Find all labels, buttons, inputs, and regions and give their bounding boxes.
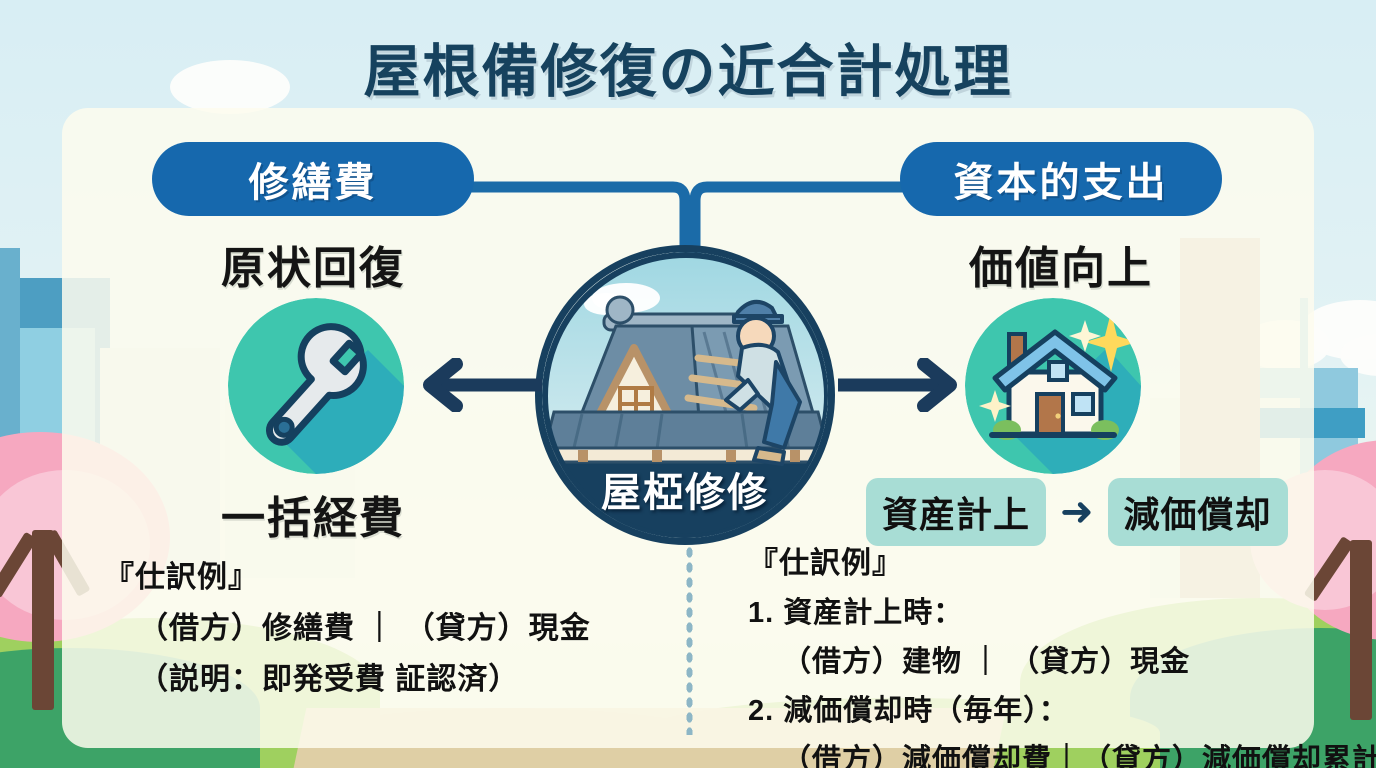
label-lump-sum-expense: 一括経費	[152, 482, 474, 546]
dotted-divider	[685, 545, 694, 735]
journal-example-left: 『仕訳例』 （借方）修繕費 ｜ （貸方）現金 （説明：即発受費 証認済）	[104, 552, 591, 698]
infographic-root: 屋根備修復の近合計処理 修繕費 資本的支出 原状回復 価値向上	[0, 0, 1376, 768]
center-label: 屋椏修修	[535, 460, 835, 518]
journal-right-line-3: 2. 減価償却時（毎年）：	[748, 687, 1376, 729]
house-sparkle-icon	[965, 298, 1141, 474]
tree-trunk-left	[32, 530, 54, 710]
journal-right-line-1: 1. 資産計上時：	[748, 589, 1376, 631]
wrench-icon	[228, 298, 404, 474]
subhead-restoration: 原状回復	[152, 232, 474, 296]
journal-right-heading: 『仕訳例』	[748, 538, 1376, 582]
arrow-right-icon	[838, 358, 962, 412]
subhead-value-improvement: 価値向上	[900, 232, 1222, 296]
page-title: 屋根備修復の近合計処理	[0, 26, 1376, 108]
badge-depreciation[interactable]: 減価償却	[1108, 478, 1288, 546]
journal-example-right: 『仕訳例』 1. 資産計上時： （借方）建物 ｜ （貸方）現金 2. 減価償却時…	[748, 538, 1376, 768]
journal-left-line-1: （借方）修繕費 ｜ （貸方）現金	[104, 603, 591, 647]
badge-asset-recording[interactable]: 資産計上	[866, 478, 1046, 546]
badge-arrow-icon: ➜	[1060, 492, 1094, 532]
journal-right-line-4: （借方）減価償却費｜（貸方）減価償却累計額	[748, 736, 1376, 768]
arrow-left-icon	[418, 358, 542, 412]
journal-left-line-2: （説明：即発受費 証認済）	[104, 654, 591, 698]
journal-right-line-2: （借方）建物 ｜ （貸方）現金	[748, 638, 1376, 680]
pill-repair-expense[interactable]: 修繕費	[152, 142, 474, 216]
journal-left-heading: 『仕訳例』	[104, 552, 591, 596]
pill-capital-expenditure[interactable]: 資本的支出	[900, 142, 1222, 216]
capital-badges-group: 資産計上 ➜ 減価償却	[866, 478, 1288, 546]
